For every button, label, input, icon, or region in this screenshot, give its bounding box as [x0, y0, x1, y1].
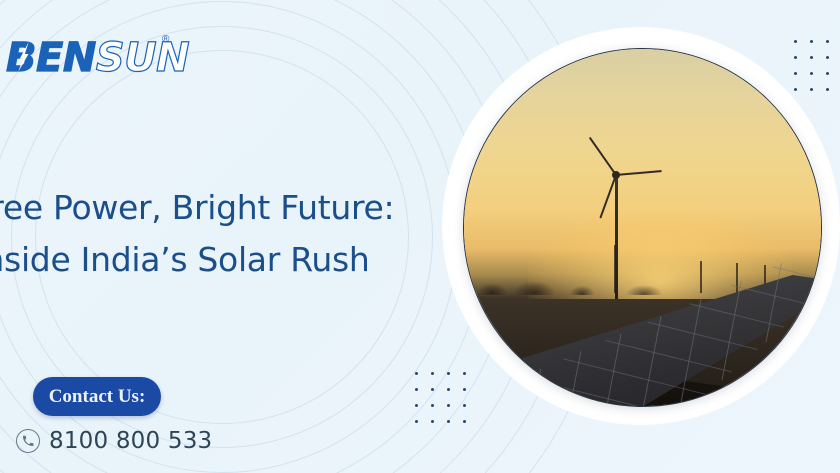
contact-us-button[interactable]: Contact Us:: [33, 377, 161, 416]
dot: [810, 40, 813, 43]
turbine-hub: [612, 171, 620, 179]
page-title: Free Power, Bright Future: Inside India’…: [0, 182, 404, 286]
dot: [447, 388, 450, 391]
dot: [826, 72, 829, 75]
phone-contact-row[interactable]: 8100 800 533: [16, 428, 212, 454]
logo-letters-sun: SUN: [96, 35, 189, 81]
turbine-blade: [616, 170, 662, 176]
headline-line-2: Inside India’s Solar Rush: [0, 234, 404, 286]
sunset-sky: [464, 49, 821, 406]
hero-photo-circle: [463, 48, 822, 407]
dot: [447, 420, 450, 423]
dot: [463, 372, 466, 375]
logo-letters-en: EN: [36, 35, 96, 81]
dot: [431, 404, 434, 407]
dot: [447, 404, 450, 407]
dot: [794, 88, 797, 91]
dot: [415, 388, 418, 391]
dot: [810, 56, 813, 59]
dot-grid-top-right: [794, 40, 840, 91]
dot: [431, 372, 434, 375]
turbine-blade: [589, 137, 617, 176]
dot: [794, 40, 797, 43]
dot: [794, 56, 797, 59]
dot: [415, 372, 418, 375]
phone-icon: [16, 429, 40, 453]
dot-grid-bottom-left: [415, 372, 466, 423]
bensun-logo[interactable]: BENSUN ®: [6, 32, 186, 84]
dot: [431, 420, 434, 423]
phone-number: 8100 800 533: [49, 428, 212, 454]
dot: [415, 420, 418, 423]
dot: [826, 40, 829, 43]
dot: [463, 404, 466, 407]
dot: [826, 56, 829, 59]
dot: [810, 88, 813, 91]
dot: [447, 372, 450, 375]
dot: [415, 404, 418, 407]
dot: [463, 420, 466, 423]
headline-line-1: Free Power, Bright Future:: [0, 182, 404, 234]
solar-panel-cell-grid: [463, 257, 822, 407]
dot: [826, 88, 829, 91]
dot: [794, 72, 797, 75]
dot: [810, 72, 813, 75]
registered-trademark-icon: ®: [162, 34, 169, 45]
dot: [463, 388, 466, 391]
dot: [431, 388, 434, 391]
logo-wordmark: BENSUN: [6, 32, 186, 84]
solar-panel-array: [463, 257, 822, 407]
promotional-banner: BENSUN ® Free Power, Bright Future: Insi…: [0, 0, 840, 473]
